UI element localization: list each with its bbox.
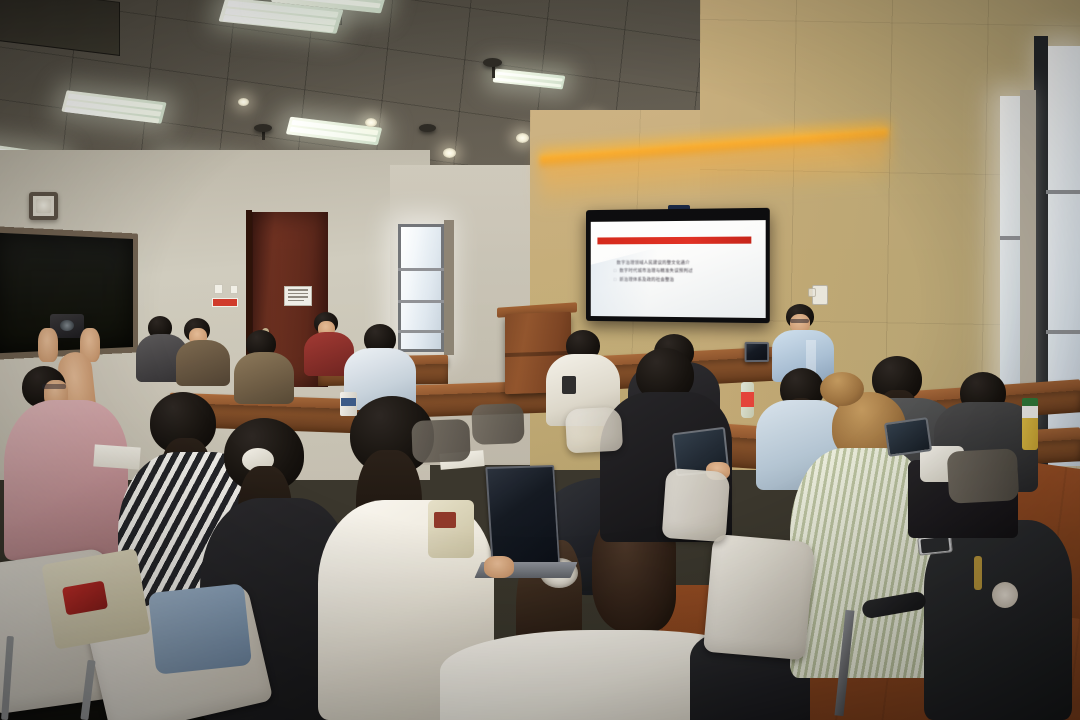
presentation-slide: 数字治理领域人民建议的整文化通介 □数字时代城市治理与精准失误预判过 □新治理体…: [591, 220, 766, 318]
slide-screen-glare: [591, 241, 702, 318]
phone-screen[interactable]: [920, 537, 949, 554]
right-window-mullion-3: [1046, 330, 1080, 334]
attendee-back-3-body: [234, 352, 294, 404]
ceiling-speaker-1: [254, 124, 272, 132]
paper-bag: [428, 500, 474, 558]
right-window-inner: [1000, 96, 1020, 426]
wall-notice-1: [214, 284, 223, 294]
blue-jacket-on-chair: [148, 583, 252, 675]
attendee-back-2-body: [176, 340, 230, 386]
bag-charm: [992, 582, 1018, 608]
downlight-8: [365, 118, 377, 127]
window-mullion-h1: [398, 268, 444, 271]
wall-switch-small[interactable]: [808, 288, 816, 297]
water-bottle-1-label: [741, 392, 754, 407]
desk-cup-band: [341, 398, 356, 406]
right-window-mullion-1: [1000, 236, 1020, 240]
chair-right-1[interactable]: [703, 534, 815, 660]
chair-mid-2[interactable]: [411, 419, 470, 463]
presenter-glasses: [790, 319, 809, 323]
chair-mid-1[interactable]: [471, 403, 524, 445]
chair-right-2[interactable]: [662, 468, 731, 542]
ceiling-speaker-3: [483, 58, 502, 67]
door-notice-sign: [284, 286, 312, 306]
blonde-woman-bun: [820, 372, 864, 406]
bag-strap-hook: [974, 556, 982, 590]
wall-notice-2: [230, 285, 238, 294]
flat-panel-display[interactable]: 数字治理领域人民建议的整文化通介 □数字时代城市治理与精准失误预判过 □新治理体…: [586, 208, 770, 323]
right-window-mullion-2: [1046, 190, 1080, 194]
presenter-laptop[interactable]: [745, 342, 769, 362]
window-mullion-h3: [398, 330, 444, 333]
chair-mid-3[interactable]: [565, 407, 623, 454]
laptop-user-hand: [484, 556, 514, 578]
ceiling-speaker-4: [419, 124, 436, 132]
chair-far-right[interactable]: [947, 448, 1020, 504]
drink-bottle-2-label: [1022, 406, 1038, 418]
camera-holder-shirt: [4, 400, 128, 560]
wall-board: [0, 226, 138, 360]
photo-scene: 数字治理领域人民建议的整文化通介 □数字时代城市治理与精准失误预判过 □新治理体…: [0, 0, 1080, 720]
camera-holder-glasses: [42, 384, 66, 389]
downlight-9: [238, 98, 249, 106]
held-camera-lens: [60, 320, 74, 331]
wall-clock: [29, 192, 58, 220]
downlight-2: [516, 133, 529, 143]
window-mullion-h2: [398, 300, 444, 303]
downlight-1: [443, 148, 456, 158]
tablet-device-2[interactable]: [884, 417, 932, 457]
wall-sign-red: [212, 298, 238, 307]
paper-bag-logo: [434, 512, 456, 528]
window-jamb: [444, 220, 454, 355]
camera-holder-left-hand: [38, 328, 58, 362]
notebook-left: [93, 444, 140, 469]
tee-print-letter: [562, 376, 576, 394]
